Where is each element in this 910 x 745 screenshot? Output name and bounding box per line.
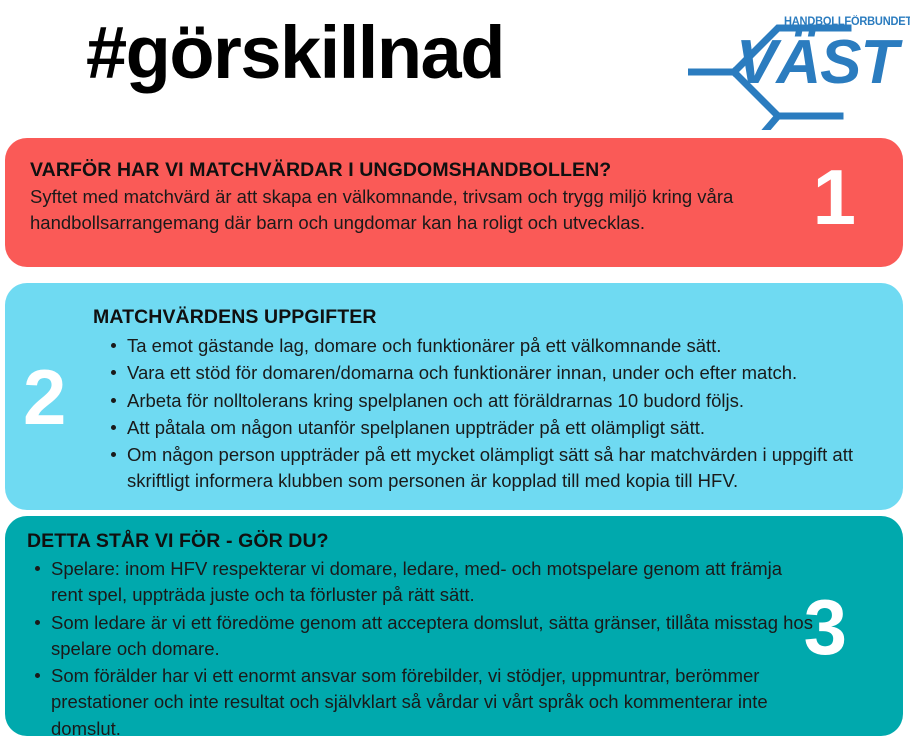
panel-3-list: Spelare: inom HFV respekterar vi domare,… [27,556,817,742]
panel-2-heading: MATCHVÄRDENS UPPGIFTER [93,306,898,329]
panel-1-heading: VARFÖR HAR VI MATCHVÄRDAR I UNGDOMSHANDB… [30,159,790,182]
panel-3-heading: DETTA STÅR VI FÖR - GÖR DU? [27,530,817,553]
panel-3-number-badge: 3 [804,588,847,666]
list-item: Om någon person uppträder på ett mycket … [111,442,898,495]
panel-detta-star-vi-for: DETTA STÅR VI FÖR - GÖR DU? Spelare: ino… [5,516,903,736]
panel-matchvardens-uppgifter: 2 MATCHVÄRDENS UPPGIFTER Ta emot gästand… [5,283,903,510]
list-item: Som ledare är vi ett föredöme genom att … [35,610,817,663]
list-item: Ta emot gästande lag, domare och funktio… [111,333,898,359]
list-item: Att påtala om någon utanför spelplanen u… [111,415,898,441]
list-item: Som förälder har vi ett enormt ansvar so… [35,663,817,742]
logo-wordmark: VÄST [736,32,897,94]
panel-1-content: VARFÖR HAR VI MATCHVÄRDAR I UNGDOMSHANDB… [30,159,790,237]
list-item: Vara ett stöd för domaren/domarna och fu… [111,360,898,386]
panel-why-matchvardar: VARFÖR HAR VI MATCHVÄRDAR I UNGDOMSHANDB… [5,138,903,267]
page-title: #görskillnad [86,16,504,90]
handbollforbundet-vast-logo: HANDBOLLFÖRBUNDET VÄST [688,8,903,130]
panel-1-paragraph: Syftet med matchvärd är att skapa en väl… [30,184,790,237]
page-header: #görskillnad HANDBOLLFÖRBUNDET VÄST [0,0,910,133]
panel-1-number-badge: 1 [813,158,856,236]
list-item: Spelare: inom HFV respekterar vi domare,… [35,556,817,609]
logo-supertext: HANDBOLLFÖRBUNDET [784,17,910,29]
panel-2-content: MATCHVÄRDENS UPPGIFTER Ta emot gästande … [93,306,898,496]
panel-2-list: Ta emot gästande lag, domare och funktio… [93,333,898,495]
panel-3-content: DETTA STÅR VI FÖR - GÖR DU? Spelare: ino… [27,530,817,743]
panel-2-number-badge: 2 [23,358,66,436]
list-item: Arbeta för nolltolerans kring spelplanen… [111,388,898,414]
